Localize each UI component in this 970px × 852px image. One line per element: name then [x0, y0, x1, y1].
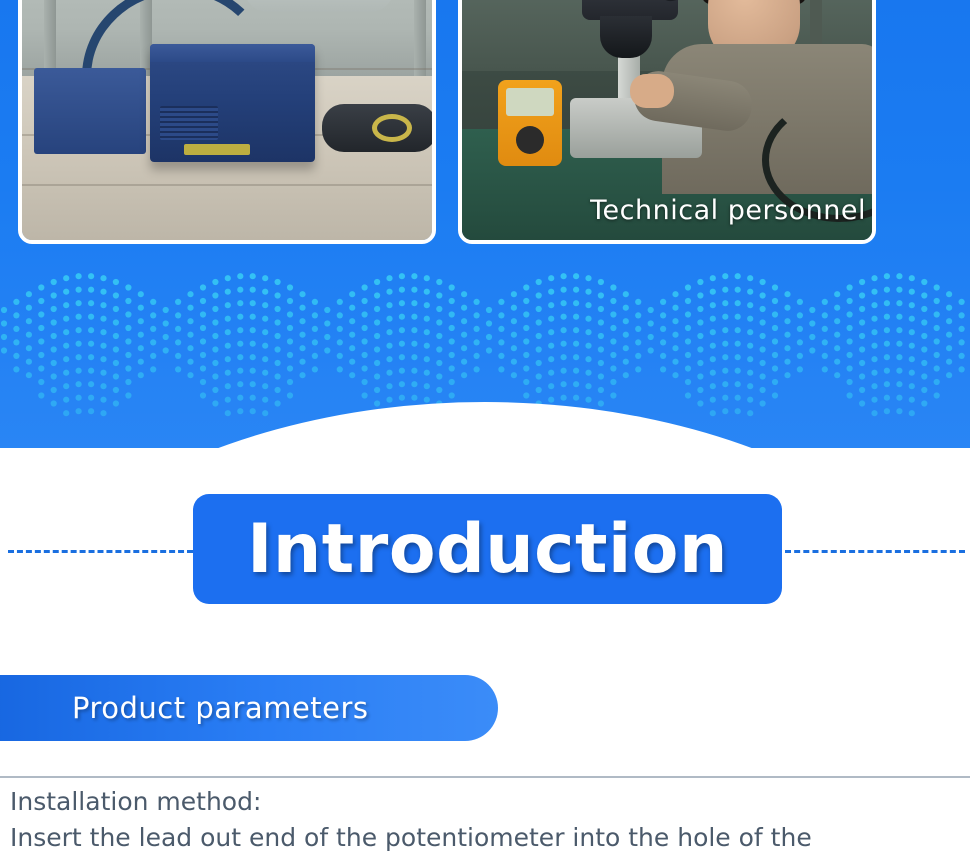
installation-method-text: Insert the lead out end of the potentiom…	[10, 820, 960, 852]
microscope-technician-photo: Technical personnel	[458, 0, 876, 244]
introduction-title-box: Introduction	[193, 494, 782, 604]
introduction-section: Introduction	[0, 462, 970, 642]
product-parameters-heading: Product parameters	[0, 675, 498, 741]
banner-bottom-edge	[0, 448, 970, 462]
page-title: Introduction	[247, 510, 728, 589]
right-photo-caption: Technical personnel	[590, 195, 866, 226]
divider-dash-right	[785, 550, 965, 553]
soldering-workbench-photo	[18, 0, 436, 244]
installation-method-label: Installation method:	[10, 784, 960, 820]
installation-details: Installation method: Insert the lead out…	[10, 784, 960, 852]
divider-dash-left	[8, 550, 193, 553]
section-divider	[0, 776, 970, 778]
top-blue-banner: Technical personnel	[0, 0, 970, 462]
product-parameters-label: Product parameters	[72, 691, 369, 725]
product-detail-page: Technical personnel Introduction Product…	[0, 0, 970, 852]
